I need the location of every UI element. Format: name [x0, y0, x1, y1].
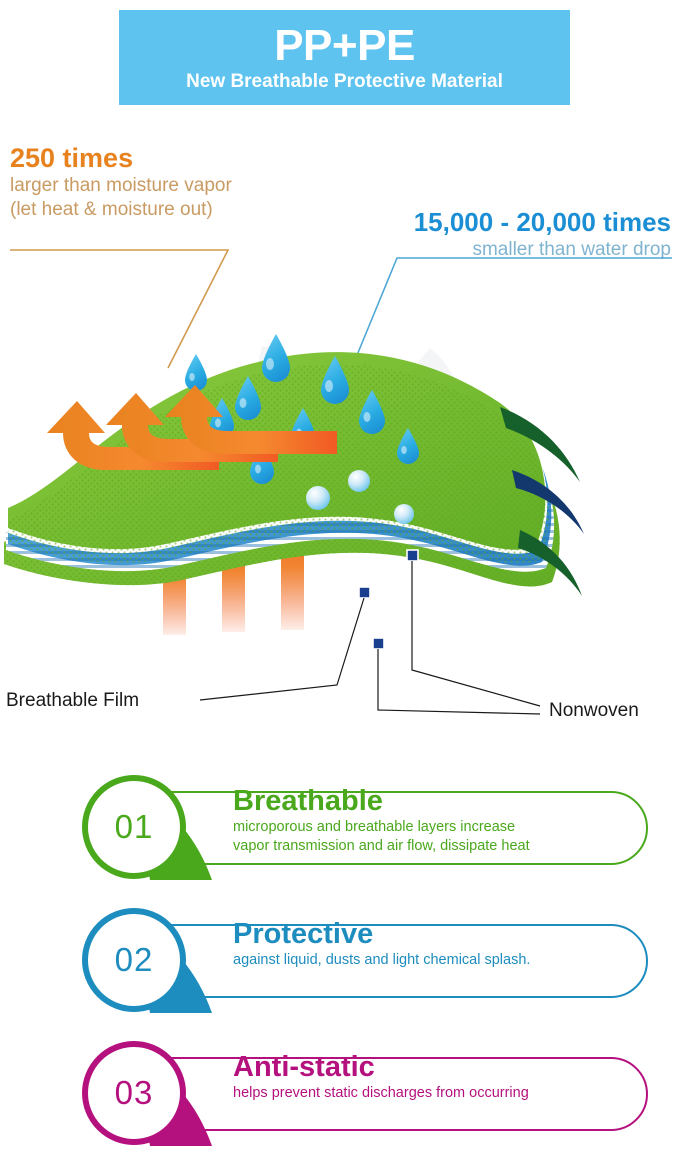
feature-row-02[interactable]: 02 Protective against liquid, dusts and …	[0, 895, 679, 1028]
feature-text-01: Breathable microporous and breathable la…	[233, 786, 601, 856]
material-cross-section-illustration	[0, 110, 679, 730]
page-subtitle: New Breathable Protective Material	[186, 72, 503, 91]
feature-number-01: 01	[95, 788, 173, 866]
callout-right-leader-line	[355, 258, 672, 360]
feature-title-01: Breathable	[233, 786, 601, 816]
feature-desc-01-line2: vapor transmission and air flow, dissipa…	[233, 837, 601, 856]
label-nonwoven: Nonwoven	[549, 700, 639, 722]
feature-title-03: Anti-static	[233, 1052, 601, 1082]
feature-row-03[interactable]: 03 Anti-static helps prevent static disc…	[0, 1028, 679, 1161]
feature-number-02: 02	[95, 921, 173, 999]
feature-list: 01 Breathable microporous and breathable…	[0, 762, 679, 1161]
layer-marker-dots	[359, 550, 418, 649]
feature-desc-01-line1: microporous and breathable layers increa…	[233, 818, 601, 837]
feature-desc-02-line1: against liquid, dusts and light chemical…	[233, 951, 601, 970]
callout-left-leader-line	[10, 250, 228, 368]
feature-number-03: 03	[95, 1054, 173, 1132]
layer-leader-lines	[200, 561, 540, 714]
label-breathable-film: Breathable Film	[6, 690, 139, 712]
feature-row-01[interactable]: 01 Breathable microporous and breathable…	[0, 762, 679, 895]
header-banner: PP+PE New Breathable Protective Material	[119, 10, 570, 105]
feature-title-02: Protective	[233, 919, 601, 949]
feature-desc-03-line1: helps prevent static discharges from occ…	[233, 1084, 601, 1103]
infographic-page: PP+PE New Breathable Protective Material…	[0, 0, 679, 1174]
feature-text-03: Anti-static helps prevent static dischar…	[233, 1052, 601, 1103]
feature-text-02: Protective against liquid, dusts and lig…	[233, 919, 601, 970]
page-title: PP+PE	[274, 24, 415, 68]
